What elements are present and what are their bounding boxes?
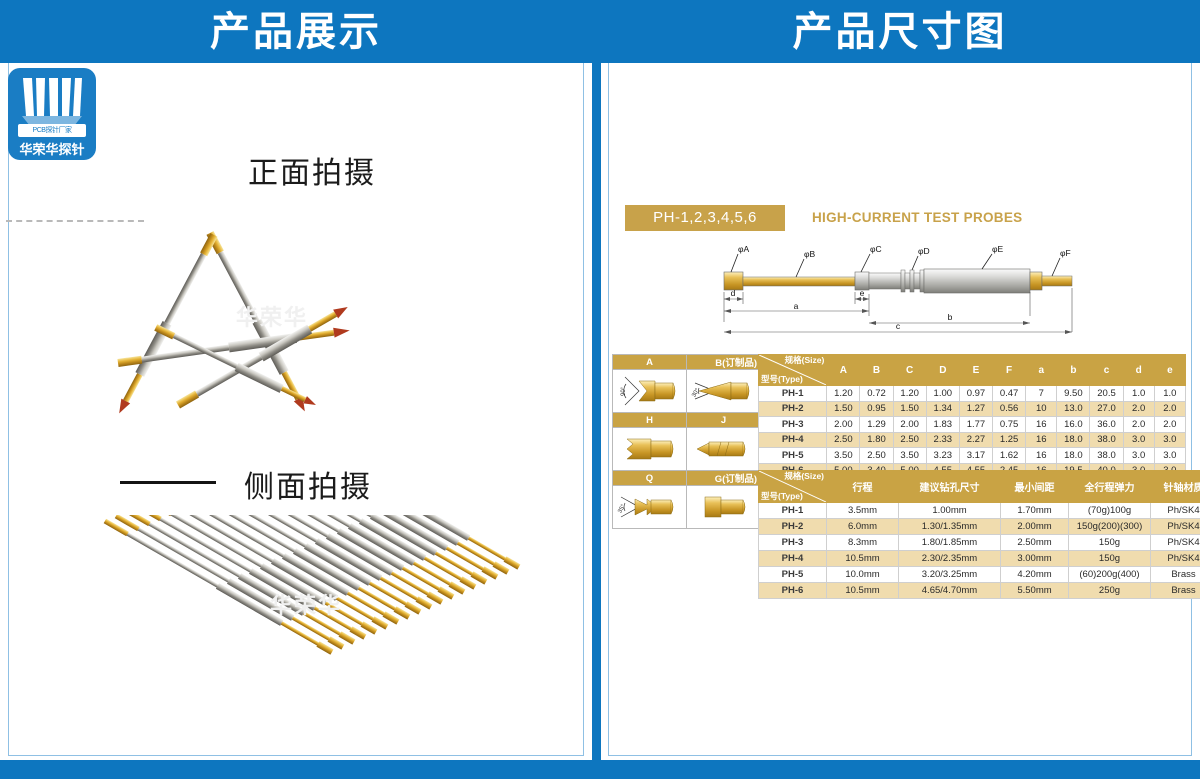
cell: 1.29 xyxy=(860,417,893,433)
tip-type-header-b: B(订制品) xyxy=(687,355,761,370)
cell: 16.0 xyxy=(1057,417,1090,433)
cell: 2.00mm xyxy=(1001,519,1069,535)
table-row: PH-2 1.50 0.95 1.50 1.34 1.27 0.56 10 13… xyxy=(759,401,1186,417)
cell: 38.0 xyxy=(1090,432,1123,448)
row-type: PH-5 xyxy=(759,567,827,583)
cell: 16 xyxy=(1026,432,1057,448)
cell: Ph/SK4 xyxy=(1151,503,1200,519)
tip-figure-g xyxy=(687,486,761,529)
technical-drawing: φA φB φC φD φE φF xyxy=(700,232,1120,349)
tip-figure-a: 90° xyxy=(613,370,687,413)
col-header: d xyxy=(1123,355,1154,386)
table-row: PH-4 10.5mm 2.30/2.35mm 3.00mm 150g Ph/S… xyxy=(759,551,1200,567)
cell: (60)200g(400) xyxy=(1069,567,1151,583)
tip-figure-q: 35° xyxy=(613,486,687,529)
cell: 3.50 xyxy=(893,448,926,464)
dimensions-table-body: PH-1 1.20 0.72 1.20 1.00 0.97 0.47 7 9.5… xyxy=(759,386,1186,479)
col-header: 全行程弹力 xyxy=(1069,471,1151,503)
cell: 18.0 xyxy=(1057,432,1090,448)
cell: 13.0 xyxy=(1057,401,1090,417)
front-view-label: 正面拍摄 xyxy=(248,148,376,192)
cell: 150g xyxy=(1069,551,1151,567)
cell: 6.0mm xyxy=(827,519,899,535)
tip-type-header-a: A xyxy=(613,355,687,370)
tip-figure-j xyxy=(687,428,761,471)
cell: 10 xyxy=(1026,401,1057,417)
cell: 3.5mm xyxy=(827,503,899,519)
tip-figure-b: 30° xyxy=(687,370,761,413)
properties-table-body: PH-1 3.5mm 1.00mm 1.70mm (70g)100g Ph/SK… xyxy=(759,503,1200,599)
col-header: F xyxy=(993,355,1026,386)
cell: 1.83 xyxy=(926,417,959,433)
cell: Brass xyxy=(1151,567,1200,583)
cell: 3.20/3.25mm xyxy=(899,567,1001,583)
cell: 0.72 xyxy=(860,386,893,402)
cell: Brass xyxy=(1151,583,1200,599)
cell: 2.00 xyxy=(827,417,860,433)
corner-type-label: 型号(Type) xyxy=(761,491,803,502)
crown-icon xyxy=(20,76,84,128)
col-header: 针轴材质 xyxy=(1151,471,1200,503)
row-type: PH-5 xyxy=(759,448,827,464)
cell: 2.27 xyxy=(959,432,992,448)
table-row: PH-6 10.5mm 4.65/4.70mm 5.50mm 250g Bras… xyxy=(759,583,1200,599)
cell: 1.30/1.35mm xyxy=(899,519,1001,535)
left-banner-title: 产品展示 xyxy=(0,6,592,58)
cell: 1.25 xyxy=(993,432,1026,448)
callout-b: b xyxy=(948,312,953,322)
cell: 10.5mm xyxy=(827,551,899,567)
cell: 7 xyxy=(1026,386,1057,402)
cell: 16 xyxy=(1026,448,1057,464)
table-row: PH-3 2.00 1.29 2.00 1.83 1.77 0.75 16 16… xyxy=(759,417,1186,433)
cell: Ph/SK4 xyxy=(1151,519,1200,535)
row-type: PH-4 xyxy=(759,551,827,567)
cell: 150g(200)(300) xyxy=(1069,519,1151,535)
cell: 3.0 xyxy=(1154,448,1185,464)
cell: 2.50 xyxy=(860,448,893,464)
table-row: PH-2 6.0mm 1.30/1.35mm 2.00mm 150g(200)(… xyxy=(759,519,1200,535)
cell: 5.50mm xyxy=(1001,583,1069,599)
cell: 10.5mm xyxy=(827,583,899,599)
svg-text:90°: 90° xyxy=(621,386,627,396)
dimensions-table: 规格(Size) 型号(Type) A B C D E F a b c d e … xyxy=(758,354,1186,479)
watermark-front: 华荣华 xyxy=(236,300,308,332)
cell: 1.00 xyxy=(926,386,959,402)
properties-corner-header: 规格(Size) 型号(Type) xyxy=(759,471,827,503)
cell: Ph/SK4 xyxy=(1151,551,1200,567)
watermark-side: 华荣华 xyxy=(270,588,342,620)
cell: 1.20 xyxy=(893,386,926,402)
cell: 36.0 xyxy=(1090,417,1123,433)
cell: Ph/SK4 xyxy=(1151,535,1200,551)
cell: 2.0 xyxy=(1123,417,1154,433)
col-header: E xyxy=(959,355,992,386)
cell: 16 xyxy=(1026,417,1057,433)
col-header: e xyxy=(1154,355,1185,386)
col-header: 行程 xyxy=(827,471,899,503)
callout-phi-e: φE xyxy=(992,244,1004,254)
cell: 150g xyxy=(1069,535,1151,551)
cell: 0.95 xyxy=(860,401,893,417)
table-row: PH-4 2.50 1.80 2.50 2.33 2.27 1.25 16 18… xyxy=(759,432,1186,448)
col-header: c xyxy=(1090,355,1123,386)
cell: 2.33 xyxy=(926,432,959,448)
callout-phi-f: φF xyxy=(1060,248,1071,258)
col-header: a xyxy=(1026,355,1057,386)
callout-phi-c: φC xyxy=(870,244,882,254)
callout-phi-b: φB xyxy=(804,249,816,259)
callout-d: d xyxy=(731,288,736,298)
tip-figure-h xyxy=(613,428,687,471)
cell: 2.50 xyxy=(827,432,860,448)
cell: 1.80 xyxy=(860,432,893,448)
callout-phi-a: φA xyxy=(738,244,750,254)
product-spec-page: 产品展示 产品尺寸图 PCB探针厂家 华荣华探针 正面拍摄 xyxy=(0,0,1200,779)
col-header: B xyxy=(860,355,893,386)
cell: 2.30/2.35mm xyxy=(899,551,1001,567)
cell: 1.50 xyxy=(893,401,926,417)
cell: 1.80/1.85mm xyxy=(899,535,1001,551)
row-type: PH-4 xyxy=(759,432,827,448)
callout-phi-d: φD xyxy=(918,246,930,256)
product-subtitle: HIGH-CURRENT TEST PROBES xyxy=(812,208,1022,228)
cell: 1.00mm xyxy=(899,503,1001,519)
cell: 8.3mm xyxy=(827,535,899,551)
callout-e: e xyxy=(860,288,865,298)
col-header: 最小间距 xyxy=(1001,471,1069,503)
tip-type-header-h: H xyxy=(613,413,687,428)
cell: 20.5 xyxy=(1090,386,1123,402)
dimensions-corner-header: 规格(Size) 型号(Type) xyxy=(759,355,827,386)
cell: 3.0 xyxy=(1123,448,1154,464)
cell: 2.00 xyxy=(893,417,926,433)
svg-text:35°: 35° xyxy=(617,503,627,514)
cell: 1.0 xyxy=(1154,386,1185,402)
corner-size-label: 规格(Size) xyxy=(785,355,825,366)
cell: 18.0 xyxy=(1057,448,1090,464)
table-row: PH-5 10.0mm 3.20/3.25mm 4.20mm (60)200g(… xyxy=(759,567,1200,583)
col-header: D xyxy=(926,355,959,386)
cell: 2.0 xyxy=(1123,401,1154,417)
col-header: A xyxy=(827,355,860,386)
cell: 0.47 xyxy=(993,386,1026,402)
table-row: PH-5 3.50 2.50 3.50 3.23 3.17 1.62 16 18… xyxy=(759,448,1186,464)
row-type: PH-6 xyxy=(759,583,827,599)
cell: 2.50mm xyxy=(1001,535,1069,551)
row-type: PH-1 xyxy=(759,503,827,519)
tip-type-header-j: J xyxy=(687,413,761,428)
col-header: 建议钻孔尺寸 xyxy=(899,471,1001,503)
side-view-photo xyxy=(95,515,535,745)
company-logo: PCB探针厂家 华荣华探针 xyxy=(8,68,96,160)
cell: 4.65/4.70mm xyxy=(899,583,1001,599)
row-type: PH-3 xyxy=(759,535,827,551)
cell: 1.34 xyxy=(926,401,959,417)
panel-divider xyxy=(592,0,601,760)
cell: 3.50 xyxy=(827,448,860,464)
cell: (70g)100g xyxy=(1069,503,1151,519)
cell: 27.0 xyxy=(1090,401,1123,417)
cell: 3.00mm xyxy=(1001,551,1069,567)
logo-brand-name: 华荣华探针 xyxy=(8,140,96,160)
corner-size-label: 规格(Size) xyxy=(784,471,824,482)
row-type: PH-1 xyxy=(759,386,827,402)
cell: 1.62 xyxy=(993,448,1026,464)
tip-type-header-q: Q xyxy=(613,471,687,486)
right-banner-title: 产品尺寸图 xyxy=(600,6,1200,58)
row-type: PH-2 xyxy=(759,401,827,417)
cell: 2.0 xyxy=(1154,417,1185,433)
cell: 3.0 xyxy=(1154,432,1185,448)
side-view-label: 侧面拍摄 xyxy=(244,462,372,506)
solid-rule xyxy=(120,481,216,484)
logo-inner-text: PCB探针厂家 xyxy=(18,124,86,137)
cell: 0.75 xyxy=(993,417,1026,433)
model-tag: PH-1,2,3,4,5,6 xyxy=(625,205,785,231)
cell: 250g xyxy=(1069,583,1151,599)
cell: 3.17 xyxy=(959,448,992,464)
cell: 1.20 xyxy=(827,386,860,402)
cell: 3.0 xyxy=(1123,432,1154,448)
corner-type-label: 型号(Type) xyxy=(761,374,803,385)
cell: 1.70mm xyxy=(1001,503,1069,519)
table-row: PH-1 1.20 0.72 1.20 1.00 0.97 0.47 7 9.5… xyxy=(759,386,1186,402)
cell: 2.0 xyxy=(1154,401,1185,417)
col-header: C xyxy=(893,355,926,386)
bottom-banner xyxy=(0,760,1200,779)
cell: 38.0 xyxy=(1090,448,1123,464)
cell: 1.0 xyxy=(1123,386,1154,402)
callout-c: c xyxy=(896,321,901,331)
col-header: b xyxy=(1057,355,1090,386)
cell: 1.77 xyxy=(959,417,992,433)
cell: 3.23 xyxy=(926,448,959,464)
cell: 4.20mm xyxy=(1001,567,1069,583)
cell: 2.50 xyxy=(893,432,926,448)
row-type: PH-3 xyxy=(759,417,827,433)
tip-type-header-g: G(订制品) xyxy=(687,471,761,486)
table-row: PH-1 3.5mm 1.00mm 1.70mm (70g)100g Ph/SK… xyxy=(759,503,1200,519)
cell: 0.97 xyxy=(959,386,992,402)
row-type: PH-2 xyxy=(759,519,827,535)
tip-type-table: A B(订制品) 90° xyxy=(612,354,761,529)
callout-a: a xyxy=(794,301,799,311)
cell: 10.0mm xyxy=(827,567,899,583)
cell: 0.56 xyxy=(993,401,1026,417)
properties-table: 规格(Size) 型号(Type) 行程 建议钻孔尺寸 最小间距 全行程弹力 针… xyxy=(758,470,1200,599)
cell: 1.27 xyxy=(959,401,992,417)
cell: 1.50 xyxy=(827,401,860,417)
table-row: PH-3 8.3mm 1.80/1.85mm 2.50mm 150g Ph/SK… xyxy=(759,535,1200,551)
cell: 9.50 xyxy=(1057,386,1090,402)
